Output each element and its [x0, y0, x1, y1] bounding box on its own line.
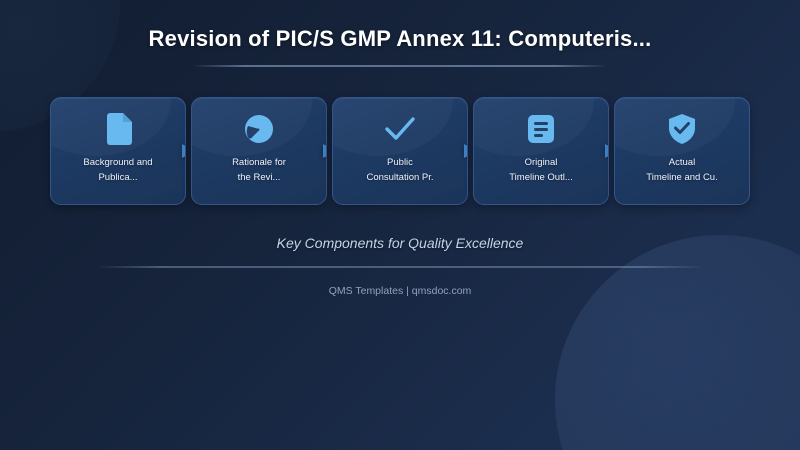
slide-subtitle: Key Components for Quality Excellence — [0, 235, 800, 251]
slide-canvas: Revision of PIC/S GMP Annex 11: Computer… — [0, 0, 800, 450]
pie-chart-icon — [192, 112, 326, 146]
flow-card-1[interactable]: Background and Publica... — [50, 97, 186, 205]
flow-card-label: Background and Publica... — [74, 155, 161, 185]
title-divider — [195, 65, 605, 67]
process-flow: Background and Publica... Rationale for … — [50, 97, 750, 205]
list-document-icon — [474, 112, 608, 146]
check-icon — [333, 112, 467, 146]
flow-card-2[interactable]: Rationale for the Revi... — [191, 97, 327, 205]
slide-footer: QMS Templates | qmsdoc.com — [0, 285, 800, 297]
flow-card-label: Public Consultation Pr. — [357, 155, 442, 185]
slide-title: Revision of PIC/S GMP Annex 11: Computer… — [0, 26, 800, 52]
flow-card-label: Original Timeline Outl... — [500, 155, 582, 185]
slide-header: Revision of PIC/S GMP Annex 11: Computer… — [0, 26, 800, 67]
footer-divider — [100, 266, 700, 268]
shield-check-icon — [615, 112, 749, 146]
flow-arrow-1 — [182, 144, 186, 158]
flow-card-4[interactable]: Original Timeline Outl... — [473, 97, 609, 205]
flow-card-3[interactable]: Public Consultation Pr. — [332, 97, 468, 205]
flow-arrow-2 — [323, 144, 327, 158]
flow-arrow-4 — [605, 144, 609, 158]
flow-arrow-3 — [464, 144, 468, 158]
document-icon — [51, 112, 185, 146]
flow-card-label: Actual Timeline and Cu. — [637, 155, 726, 185]
flow-card-5[interactable]: Actual Timeline and Cu. — [614, 97, 750, 205]
flow-card-label: Rationale for the Revi... — [223, 155, 295, 185]
